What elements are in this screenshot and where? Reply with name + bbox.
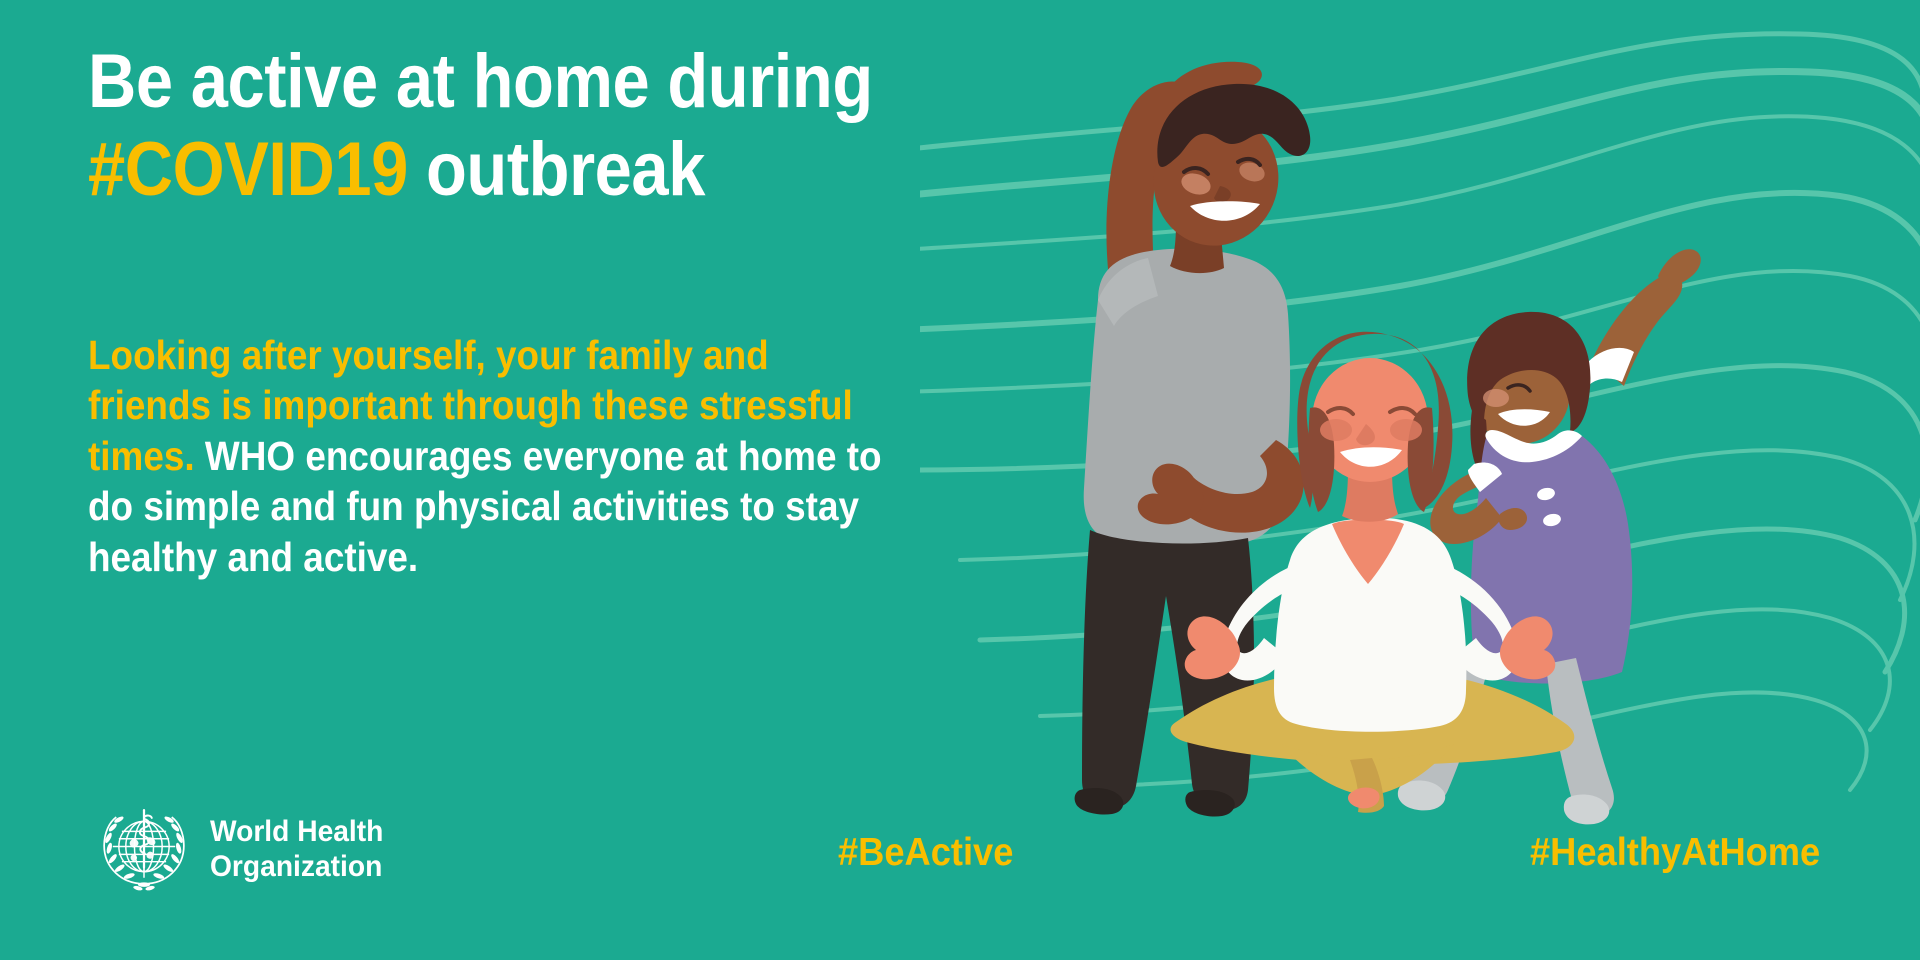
headline-hashtag-covid19: #COVID19 bbox=[88, 127, 408, 212]
who-wordmark-line-1: World Health bbox=[210, 815, 383, 850]
body-line-2: friends is important through these stres… bbox=[88, 380, 880, 430]
body-line-5: healthy and active. bbox=[88, 532, 880, 582]
body-line-3-white: WHO encourages everyone at home to bbox=[195, 433, 882, 479]
who-be-active-poster: Be active at home during #COVID19 outbre… bbox=[0, 0, 1920, 960]
who-wordmark-line-2: Organization bbox=[210, 850, 383, 885]
page-title: Be active at home during #COVID19 outbre… bbox=[88, 38, 880, 214]
body-line-3-yellow: times. bbox=[88, 433, 195, 479]
who-logo: World Health Organization bbox=[92, 798, 394, 902]
body-line-1: Looking after yourself, your family and bbox=[88, 330, 880, 380]
text-column: Be active at home during #COVID19 outbre… bbox=[0, 0, 1010, 960]
headline-outbreak: outbreak bbox=[408, 127, 705, 212]
headline-line-1: Be active at home during bbox=[88, 38, 880, 126]
family-exercising-illustration bbox=[980, 0, 1920, 960]
body-line-4: do simple and fun physical activities to… bbox=[88, 481, 880, 531]
who-emblem-icon bbox=[92, 798, 196, 902]
who-wordmark: World Health Organization bbox=[210, 815, 383, 885]
headline-line-2: #COVID19 outbreak bbox=[88, 126, 880, 214]
body-line-3: times. WHO encourages everyone at home t… bbox=[88, 431, 880, 481]
body-paragraph: Looking after yourself, your family and … bbox=[88, 330, 880, 582]
